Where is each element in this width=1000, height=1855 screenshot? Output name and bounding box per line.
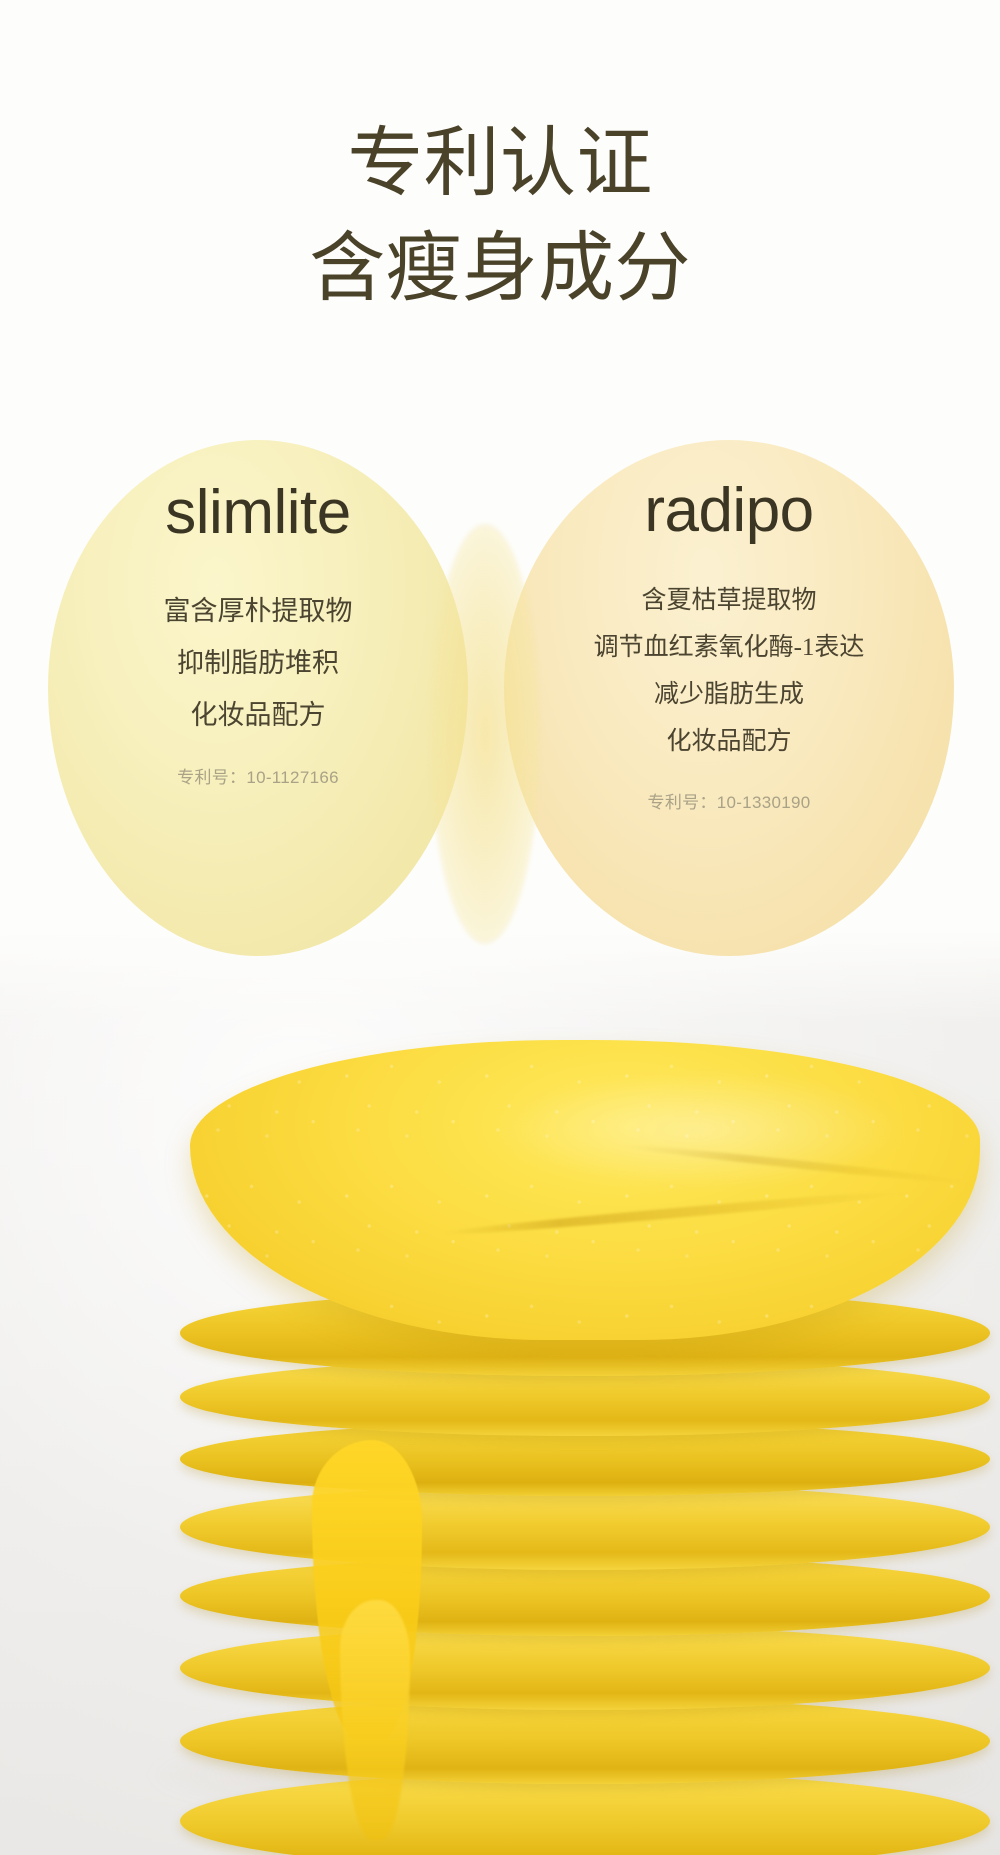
photo-top-fade: [0, 930, 1000, 1020]
brand-name-radipo: radipo: [504, 480, 954, 542]
benefit-item: 富含厚朴提取物: [48, 598, 468, 625]
sheet-mask-stack: [190, 1040, 980, 1855]
product-detail-page: 专利认证 含瘦身成分 slimlite 富含厚朴提取物 抑制脂肪堆积 化妆品配方…: [0, 0, 1000, 1855]
ingredient-card-slimlite: slimlite 富含厚朴提取物 抑制脂肪堆积 化妆品配方 专利号：10-112…: [48, 440, 468, 788]
benefit-list-radipo: 含夏枯草提取物 调节血红素氧化酶-1表达 减少脂肪生成 化妆品配方: [504, 588, 954, 754]
page-title: 专利认证 含瘦身成分: [0, 118, 1000, 315]
product-photo: [0, 930, 1000, 1855]
patent-number-radipo: 专利号：10-1330190: [504, 788, 954, 813]
benefit-item: 含夏枯草提取物: [504, 588, 954, 613]
benefit-item: 调节血红素氧化酶-1表达: [504, 635, 954, 660]
benefit-item: 化妆品配方: [48, 702, 468, 729]
patent-number-slimlite: 专利号：10-1127166: [48, 763, 468, 788]
benefit-item: 减少脂肪生成: [504, 682, 954, 707]
mask-layer: [180, 1698, 990, 1784]
mask-layer: [180, 1484, 990, 1570]
ingredient-card-radipo: radipo 含夏枯草提取物 调节血红素氧化酶-1表达 减少脂肪生成 化妆品配方…: [504, 440, 954, 813]
ingredient-venn-diagram: slimlite 富含厚朴提取物 抑制脂肪堆积 化妆品配方 专利号：10-112…: [0, 440, 1000, 960]
mask-highlight: [490, 1070, 910, 1190]
mask-layer: [180, 1772, 990, 1855]
title-line-1: 专利认证: [0, 118, 1000, 211]
benefit-item: 化妆品配方: [504, 729, 954, 754]
benefit-item: 抑制脂肪堆积: [48, 650, 468, 677]
mask-layer: [180, 1626, 990, 1710]
title-line-2: 含瘦身成分: [0, 223, 1000, 316]
brand-name-slimlite: slimlite: [48, 482, 468, 544]
benefit-list-slimlite: 富含厚朴提取物 抑制脂肪堆积 化妆品配方: [48, 598, 468, 729]
